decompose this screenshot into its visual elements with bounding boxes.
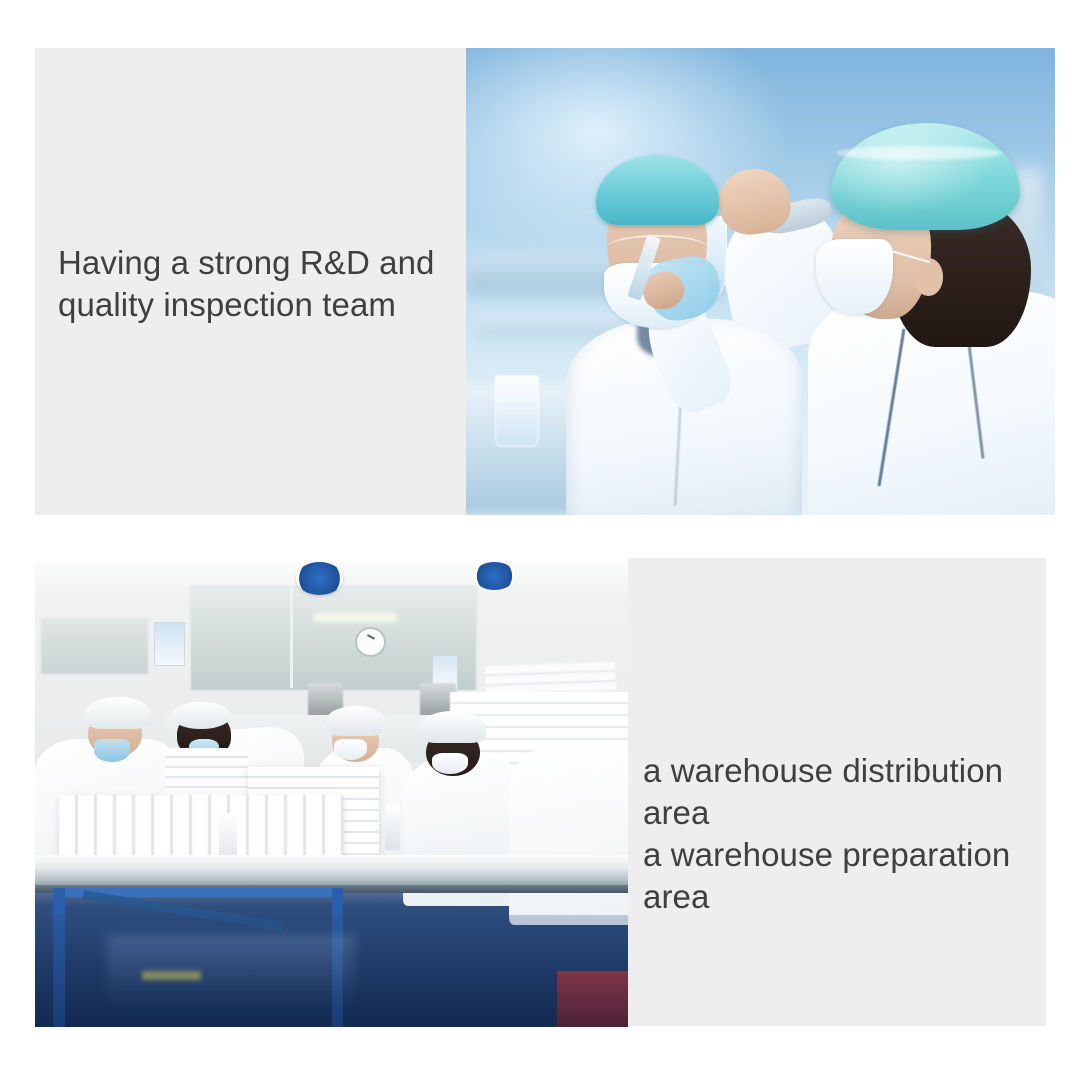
- carton-row-front: [59, 795, 344, 865]
- warehouse-blue-sign-2: [474, 562, 516, 590]
- floor-marking: [142, 971, 201, 980]
- packer-3-hairnet: [326, 706, 385, 736]
- warehouse-side-window: [41, 618, 148, 674]
- packer-2-hairnet: [171, 702, 230, 730]
- warehouse-caption: a warehouse distribution area a warehous…: [643, 750, 1043, 918]
- packer-5-coat: [509, 748, 628, 925]
- technician-b-hairnet-fold: [837, 146, 1002, 160]
- warehouse-packing-photo: [35, 562, 628, 1027]
- steel-work-table: [35, 855, 628, 888]
- banner-stage: Having a strong R&D and quality inspecti…: [0, 0, 1080, 1080]
- packer-1-hairnet: [85, 697, 150, 730]
- packer-1-face-mask: [94, 739, 130, 762]
- rnd-quality-caption: Having a strong R&D and quality inspecti…: [58, 242, 458, 326]
- technician-a-hairnet: [596, 155, 720, 225]
- lab-beaker: [495, 375, 538, 447]
- warehouse-blue-sign: [296, 562, 343, 595]
- lab-inspection-photo: [466, 48, 1055, 515]
- packer-4-face-mask: [432, 753, 468, 774]
- packer-3-face-mask: [334, 739, 367, 760]
- wall-clock-icon: [355, 627, 386, 657]
- warehouse-window-mullion: [290, 585, 293, 687]
- white-bottle-2: [385, 804, 400, 851]
- packer-4-hairnet: [420, 711, 485, 744]
- technician-b-hairnet: [831, 123, 1019, 230]
- technician-b-face-mask: [816, 239, 893, 314]
- warehouse-notice-board: [154, 622, 186, 666]
- warehouse-ceiling-light: [314, 613, 397, 622]
- technician-b-ear: [914, 258, 943, 295]
